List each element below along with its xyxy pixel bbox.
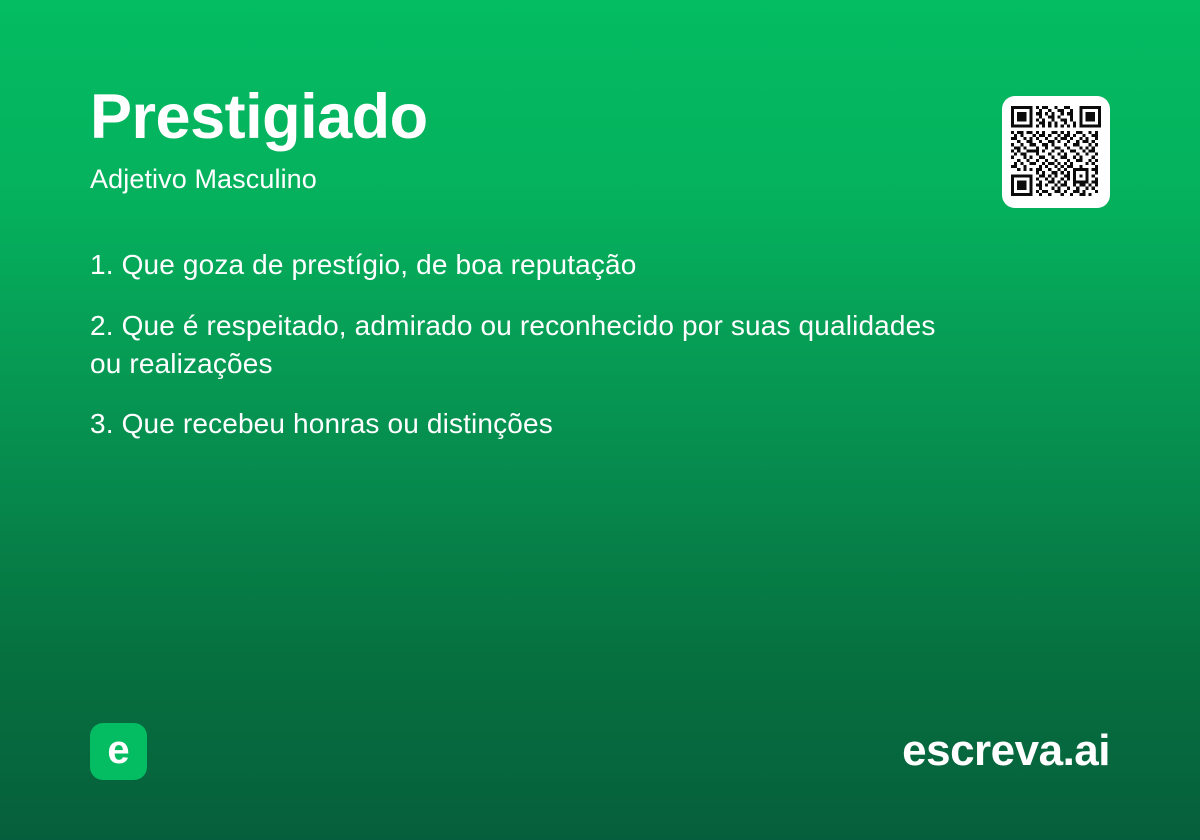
list-item: 3. Que recebeu honras ou distinções — [90, 405, 970, 443]
page-title: Prestigiado — [90, 84, 970, 150]
qr-code-icon — [1011, 105, 1101, 197]
definition-list: 1. Que goza de prestígio, de boa reputaç… — [90, 246, 970, 443]
word-class-label: Adjetivo Masculino — [90, 163, 970, 195]
brand-wordmark: escreva.ai — [902, 729, 1110, 773]
logo-letter: e — [107, 730, 129, 770]
card-header: Prestigiado Adjetivo Masculino — [90, 84, 970, 196]
logo: e — [90, 723, 147, 780]
card-footer: e escreva.ai — [90, 722, 1110, 780]
list-item: 2. Que é respeitado, admirado ou reconhe… — [90, 307, 970, 383]
qr-code-container[interactable] — [1002, 96, 1110, 208]
dictionary-card: Prestigiado Adjetivo Masculino — [0, 0, 1200, 840]
list-item: 1. Que goza de prestígio, de boa reputaç… — [90, 246, 970, 284]
